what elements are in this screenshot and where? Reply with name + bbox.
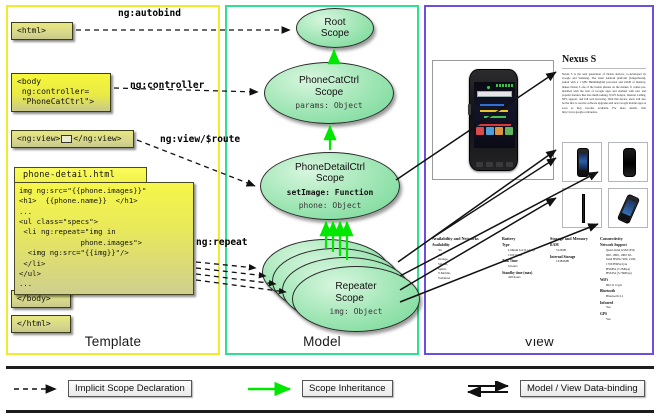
legend-label-implicit: Implicit Scope Declaration (68, 380, 192, 397)
spec-value: 6 hours (508, 264, 548, 269)
edge-label-ng-controller: ng:controller (130, 80, 204, 91)
code-callout-body: img ng:src="{{phone.images}}" <h1> {{pho… (14, 182, 194, 295)
spec-value: HSUPA (5.76Mbps) (606, 271, 644, 276)
ngview-slot-icon (61, 135, 72, 143)
product-title: Nexus S (562, 54, 596, 65)
spec-heading: Availability and Networks (432, 236, 500, 241)
tag-ngview-close: </ng:view> (73, 134, 121, 143)
nexus-s-phone-illustration (469, 69, 518, 171)
tag-body-open: <body ng:controller= "PhoneCatCtrl"> (11, 73, 111, 112)
phone-app-icons (476, 127, 513, 136)
spec-value: Yes (606, 317, 644, 322)
legend-item-data-binding: Model / View Data-binding (464, 380, 645, 397)
spec-heading: Battery (502, 236, 548, 241)
title-divider (562, 68, 646, 69)
thumbnail-front[interactable] (562, 142, 602, 182)
thumbnail-edge[interactable] (562, 188, 602, 228)
phone-screen-dot-1 (487, 86, 490, 89)
legend-bottom-divider (6, 410, 654, 413)
legend-label-databinding: Model / View Data-binding (520, 380, 645, 397)
legend-item-scope-inheritance: Scope Inheritance (246, 380, 393, 397)
scope-phonedetailctrl-prop-setimage: setImage: Function (287, 188, 374, 198)
phone-home-buttons (474, 160, 515, 168)
phone-screen (474, 82, 515, 148)
spec-value: 16384MB (556, 259, 598, 264)
spec-value: 512MB (556, 248, 598, 253)
legend-label-inheritance: Scope Inheritance (302, 380, 393, 397)
spec-heading: Connectivity (600, 236, 644, 241)
thumbnail-grid (562, 142, 648, 228)
tag-html-open: <html> (11, 22, 73, 40)
code-callout-title: phone-detail.html (14, 167, 147, 182)
spec-col-connectivity: Connectivity Network Support Quad-band G… (600, 236, 646, 321)
tag-ngview: <ng:view></ng:view> (11, 130, 134, 148)
spec-value: 428 hours (508, 275, 548, 280)
scope-repeater: Repeater Scope img: Object (292, 266, 420, 332)
spec-table: Availability and Networks Availability 3… (432, 236, 646, 321)
scope-phonecatctrl-prop-params: params: Object (295, 101, 362, 111)
panel-template-label: Template (8, 334, 218, 349)
phone-screen-line-1 (480, 104, 504, 106)
scope-phonecatctrl: PhoneCatCtrl Scope params: Object (264, 62, 394, 124)
scope-phonedetailctrl-title: PhoneDetailCtrl Scope (295, 162, 365, 185)
spec-value: Vodafone (438, 276, 500, 281)
panel-model-label: Model (227, 334, 417, 349)
spec-value: Bluetooth 2.1 (606, 294, 644, 299)
green-arrow-icon (246, 381, 298, 397)
tag-html-close: </html> (11, 315, 71, 333)
scope-root: Root Scope (296, 8, 374, 48)
scope-repeater-title: Repeater Scope (335, 281, 376, 304)
spec-value: 1500 mAh (508, 253, 548, 258)
double-arrow-icon (464, 381, 516, 397)
spec-value: 802.11 b/g/n (606, 283, 644, 288)
scope-root-title: Root Scope (321, 17, 349, 40)
code-callout-phone-detail: phone-detail.html img ng:src="{{phone.im… (14, 167, 194, 295)
dashed-arrow-icon (12, 381, 64, 397)
legend: Implicit Scope Declaration Scope Inherit… (6, 372, 654, 406)
scope-phonecatctrl-title: PhoneCatCtrl Scope (299, 75, 359, 98)
scope-phonedetailctrl: PhoneDetailCtrl Scope setImage: Function… (260, 152, 400, 220)
edge-label-ng-autobind: ng:autobind (118, 8, 181, 19)
phone-statusbar (496, 84, 513, 87)
edge-label-ng-view-route: ng:view/$route (160, 134, 240, 145)
phone-screen-line-3 (484, 116, 506, 118)
spec-heading: Storage and Memory (550, 236, 598, 241)
legend-item-implicit-scope-declaration: Implicit Scope Declaration (12, 380, 192, 397)
spec-col-storage: Storage and Memory RAM 512MB Internal St… (550, 236, 600, 321)
view-rendered-page: Nexus S Nexus S is the next generation o… (432, 14, 646, 339)
thumbnail-angled[interactable] (608, 188, 648, 228)
tag-ngview-open: <ng:view> (17, 134, 60, 143)
thumbnail-back[interactable] (608, 142, 648, 182)
phone-hero-image-frame (432, 60, 554, 180)
diagram-canvas: Template Model View <html> <body ng:cont… (0, 0, 660, 420)
spec-value: Yes (606, 305, 644, 310)
phone-side-button (468, 104, 471, 115)
spec-col-battery: Battery Type Lithium Ion (Li-Ion) 1500 m… (502, 236, 550, 321)
phone-screen-line-4 (477, 124, 511, 126)
scope-repeater-prop-img: img: Object (330, 307, 383, 317)
phone-search-widget (477, 91, 512, 97)
scope-phonedetailctrl-prop-phone: phone: Object (299, 201, 362, 211)
phone-screen-line-2 (480, 110, 508, 112)
edge-label-ng-repeat: ng:repeat (196, 237, 247, 248)
product-description: Nexus S is the next generation of Nexus … (562, 72, 646, 114)
legend-top-divider (6, 366, 654, 369)
spec-col-availability: Availability and Networks Availability 3… (432, 236, 502, 321)
